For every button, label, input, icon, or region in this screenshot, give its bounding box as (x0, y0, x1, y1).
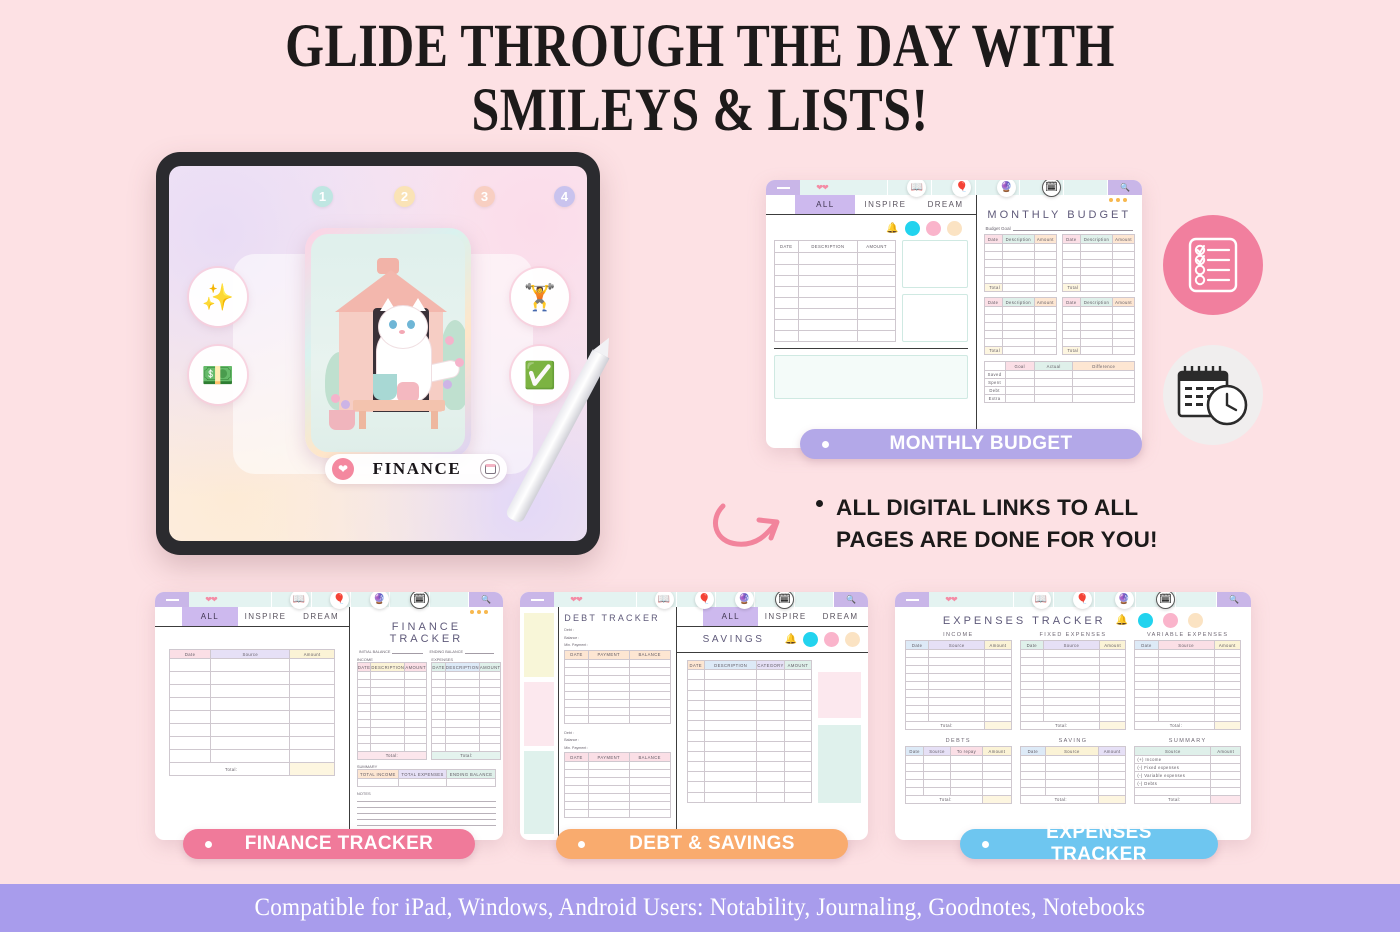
tab-all[interactable]: ALL (182, 607, 238, 626)
debt-field-minpayment[interactable]: Min. Payment : (564, 745, 670, 753)
section-summary: SUMMARY (1134, 738, 1241, 744)
cover-number-4[interactable]: 4 (554, 186, 575, 207)
col-source: Source (211, 650, 290, 659)
budget-comparison-table[interactable]: Goal Actual Difference Saved Spent Debt … (984, 361, 1135, 403)
table-row (565, 778, 670, 786)
checklist-glyph (1186, 236, 1240, 294)
col-amount: Amount (985, 641, 1011, 650)
search-icon[interactable]: 🔍 (469, 592, 503, 607)
bell-icon[interactable]: 🔔 (886, 223, 898, 234)
pill-bullet (578, 841, 585, 848)
total-label: Total: (906, 722, 985, 730)
table-row (1062, 276, 1134, 284)
col-description: DESCRIPTION (798, 241, 858, 253)
col-amount: AMOUNT (784, 661, 811, 670)
fitness-icon[interactable]: 🏋 (511, 268, 569, 326)
nav-tab-strip[interactable]: 📖 🎈 🔮 🗓 (233, 592, 469, 607)
table-row (1135, 666, 1241, 674)
table-row (984, 252, 1056, 260)
col-amount: Amount (1211, 747, 1241, 756)
budget-entries-table[interactable]: DATE DESCRIPTION AMOUNT (774, 240, 896, 342)
sticky-note-yellow[interactable] (524, 613, 554, 677)
section-variable-expenses: VARIABLE EXPENSES (1134, 632, 1241, 638)
table-row (984, 268, 1056, 276)
badge-icon[interactable]: 🔮 (997, 180, 1016, 197)
expenses-tracker-pill[interactable]: EXPENSES TRACKER (960, 829, 1218, 859)
table-row (170, 750, 335, 763)
col-total-expenses: TOTAL EXPENSES (398, 770, 446, 779)
cover-card[interactable] (305, 228, 471, 458)
table-row (775, 297, 896, 308)
col-difference: Difference (1073, 362, 1135, 371)
pill-label: MONTHLY BUDGET (842, 433, 1120, 455)
total-label: Total: (170, 763, 290, 776)
table-row (170, 698, 335, 711)
table-row (906, 666, 1012, 674)
money-icon[interactable]: 💵 (189, 346, 247, 404)
table-row (170, 672, 335, 685)
bell-icon[interactable]: 🔔 (1116, 615, 1128, 626)
mockup-navbar: ❤❤ 📖 🎈 🔮 🗓 🔍 (155, 592, 503, 607)
segment-tabs[interactable]: ALL INSPIRE DREAM (155, 607, 349, 627)
cat-illustration (311, 234, 465, 452)
table-row (687, 690, 812, 700)
table-row (1135, 650, 1241, 658)
col-actual: Actual (1034, 362, 1073, 371)
col-source: Source (929, 641, 985, 650)
color-dot-pink[interactable] (926, 221, 941, 236)
total-row: Total: (906, 722, 1012, 730)
nav-tab-strip[interactable]: 📖 🎈 🔮 🗓 (973, 592, 1217, 607)
table-row (432, 688, 501, 696)
row-label: Spent (984, 379, 1005, 387)
search-icon[interactable]: 🔍 (1108, 180, 1142, 195)
ending-balance-label: ENDING BALANCE (429, 650, 463, 654)
col-date: Date (1020, 641, 1043, 650)
table-row: Saved (984, 371, 1134, 379)
calendar-icon[interactable]: 🗓 (775, 592, 794, 609)
calendar-icon[interactable]: 🗓 (1156, 592, 1175, 609)
table-row (565, 762, 670, 770)
table-row (432, 736, 501, 744)
budget-table-2[interactable]: Date Description Amount Total (1062, 234, 1135, 292)
table-row (906, 780, 1012, 788)
notes-lines[interactable] (357, 796, 496, 826)
table-row (1135, 674, 1241, 682)
balloons-icon[interactable]: 🎈 (695, 592, 714, 609)
table-row (170, 737, 335, 750)
col-source: Source (924, 747, 951, 756)
table-row (687, 711, 812, 721)
tab-dream[interactable]: DREAM (813, 607, 868, 626)
savings-note-mint[interactable] (818, 725, 861, 803)
color-dot-pink[interactable] (1163, 613, 1178, 628)
poster-stage: GLIDE THROUGH THE DAY WITH SMILEYS & LIS… (0, 0, 1400, 932)
col-source: Source (1043, 641, 1099, 650)
col-blank (984, 362, 1005, 371)
table-row (1020, 682, 1126, 690)
table-row (984, 323, 1056, 331)
budget-table-3[interactable]: Date Description Amount Total (984, 297, 1057, 355)
table-row (1135, 690, 1241, 698)
table-row (170, 711, 335, 724)
menu-icon[interactable] (155, 592, 189, 607)
cat-eye-right-decor (407, 320, 415, 329)
table-row: (-) Fixed expenses (1135, 764, 1241, 772)
nav-tab-strip[interactable]: 📖 🎈 🔮 🗓 (598, 592, 834, 607)
total-label: Total: (432, 752, 501, 760)
bench-leg-left-decor (359, 411, 366, 429)
monthly-budget-mockup[interactable]: ❤❤ 📖 🎈 🔮 🗓 🔍 ALL INSPIRE (766, 180, 1142, 448)
debt-field-debt[interactable]: Debt : (564, 627, 670, 635)
debt-field-minpayment[interactable]: Min. Payment : (564, 642, 670, 650)
color-dot-cream[interactable] (845, 632, 860, 647)
table-row (1020, 714, 1126, 722)
flower-decor (341, 400, 350, 409)
summary-table[interactable]: TOTAL INCOME TOTAL EXPENSES ENDING BALAN… (357, 769, 496, 787)
tab-all[interactable]: ALL (703, 607, 758, 626)
flower-decor (455, 358, 464, 367)
savings-note-pink[interactable] (818, 672, 861, 718)
ending-balance-input[interactable] (465, 653, 494, 654)
debt-field-balance[interactable]: Balance : (564, 635, 670, 643)
table-row (1020, 674, 1126, 682)
color-dot-cream[interactable] (947, 221, 962, 236)
col-amount: Amount (1113, 235, 1135, 244)
tab-dream[interactable]: DREAM (293, 607, 349, 626)
table-row (1062, 252, 1134, 260)
cover-left-icon-column: ✨ 💵 (189, 268, 247, 424)
table-row (432, 720, 501, 728)
table-row (984, 260, 1056, 268)
variable-expenses-table[interactable]: Date Source Amount Total: (1134, 640, 1241, 730)
color-dot-cream[interactable] (1188, 613, 1203, 628)
menu-icon[interactable] (895, 592, 929, 607)
color-dot-cyan[interactable] (905, 221, 920, 236)
nav-tab-strip[interactable]: 📖 🎈 🔮 🗓 (844, 180, 1108, 195)
total-label: Total (984, 347, 1002, 355)
table-row (984, 276, 1056, 284)
mockup-title: FINANCE TRACKER (357, 614, 496, 650)
menu-icon[interactable] (766, 180, 800, 195)
budget-goal-input[interactable] (1013, 230, 1133, 231)
total-label: Total: (1020, 722, 1099, 730)
callout-text: ALL DIGITAL LINKS TO ALL PAGES ARE DONE … (808, 492, 1208, 556)
table-row (984, 331, 1056, 339)
col-amount: Amount (1034, 298, 1056, 307)
total-row: Total: (357, 752, 426, 760)
col-source: Source (1046, 747, 1099, 756)
col-to-repay: To repay (950, 747, 982, 756)
note-box[interactable] (902, 240, 968, 288)
segment-tabs[interactable]: ALL INSPIRE DREAM (766, 195, 976, 215)
table-row (687, 762, 812, 772)
debt-table-1[interactable]: DATE PAYMENT BALANCE (564, 650, 670, 724)
pill-label: EXPENSES TRACKER (1002, 822, 1196, 866)
mockup-title: MONTHLY BUDGET (984, 202, 1135, 226)
col-date: DATE (775, 241, 799, 253)
calendar-clock-glyph (1176, 363, 1250, 427)
table-row (906, 682, 1012, 690)
table-row (1135, 706, 1241, 714)
col-date: DATE (565, 753, 589, 762)
total-row: Total: (170, 763, 335, 776)
col-balance: BALANCE (629, 753, 670, 762)
pill-bullet (205, 841, 212, 848)
table-row (432, 680, 501, 688)
row-label: Extra (984, 395, 1005, 403)
search-icon[interactable]: 🔍 (834, 592, 868, 607)
table-row (357, 688, 426, 696)
budget-table-1[interactable]: Date Description Amount Total (984, 234, 1057, 292)
cover-title-pill[interactable]: ❤ FINANCE (325, 454, 507, 484)
table-row (984, 244, 1056, 252)
table-row (984, 315, 1056, 323)
table-row (775, 330, 896, 341)
color-dot-cyan[interactable] (1138, 613, 1153, 628)
note-box[interactable] (902, 294, 968, 342)
table-row (1020, 764, 1126, 772)
badge-icon[interactable]: 🔮 (370, 592, 389, 609)
total-row: Total: (432, 752, 501, 760)
budget-goal-label: Budget Goal (986, 226, 1011, 231)
color-dot-cyan[interactable] (803, 632, 818, 647)
cover-number-2[interactable]: 2 (394, 186, 415, 207)
monthly-budget-pill[interactable]: MONTHLY BUDGET (800, 429, 1142, 459)
debt-table-2[interactable]: DATE PAYMENT BALANCE (564, 752, 670, 818)
table-row (565, 810, 670, 818)
debt-savings-mockup[interactable]: ❤❤ 📖 🎈 🔮 🗓 🔍 DEBT T (520, 592, 868, 840)
page-title: GLIDE THROUGH THE DAY WITH SMILEYS & LIS… (126, 18, 1274, 140)
menu-icon[interactable] (520, 592, 554, 607)
bench-decor (353, 400, 445, 411)
table-row (687, 670, 812, 680)
table-row (357, 680, 426, 688)
income-table[interactable]: Date Source Amount Total: (905, 640, 1012, 730)
table-row (565, 699, 670, 707)
budget-table-4[interactable]: Date Description Amount Total (1062, 297, 1135, 355)
sticky-note-mint[interactable] (524, 751, 554, 834)
table-row (687, 721, 812, 731)
table-row: Spent (984, 379, 1134, 387)
table-row (432, 672, 501, 680)
debt-savings-pill[interactable]: DEBT & SAVINGS (556, 829, 848, 859)
note-box-wide[interactable] (774, 355, 968, 399)
table-row (1020, 698, 1126, 706)
col-description: DESCRIPTION (705, 661, 757, 670)
table-row (1020, 650, 1126, 658)
table-row (775, 253, 896, 264)
finance-tracker-pill[interactable]: FINANCE TRACKER (183, 829, 475, 859)
verified-badge-icon[interactable]: ✅ (511, 346, 569, 404)
total-row: Total: (1135, 796, 1241, 804)
pill-bullet (982, 841, 989, 848)
table-row (687, 680, 812, 690)
bench-leg-right-decor (431, 411, 438, 429)
table-row (565, 691, 670, 699)
pill-label: FINANCE TRACKER (225, 833, 453, 855)
balloons-icon[interactable]: 🎈 (330, 592, 349, 609)
badge-icon[interactable]: 🔮 (1115, 592, 1134, 609)
debts-table[interactable]: Date Source To repay Amount Total: (905, 746, 1012, 804)
total-label: Total: (1135, 722, 1214, 730)
col-balance: BALANCE (629, 650, 670, 659)
table-row (357, 736, 426, 744)
col-amount: Amount (290, 650, 335, 659)
table-row (1020, 788, 1126, 796)
table-row: (-) Debts (1135, 780, 1241, 788)
bell-icon[interactable]: 🔔 (785, 634, 797, 645)
table-row (1062, 315, 1134, 323)
col-date: Date (1020, 747, 1045, 756)
table-row (170, 724, 335, 737)
row-label: Saved (984, 371, 1005, 379)
table-row (432, 744, 501, 752)
table-row (687, 700, 812, 710)
tab-all[interactable]: ALL (795, 195, 855, 214)
table-row (1135, 658, 1241, 666)
table-row (1020, 666, 1126, 674)
table-row (1062, 307, 1134, 315)
tab-inspire[interactable]: INSPIRE (238, 607, 294, 626)
table-row (1020, 756, 1126, 764)
checklist-icon (1163, 215, 1263, 315)
cover-number-1[interactable]: 1 (312, 186, 333, 207)
tab-inspire[interactable]: INSPIRE (855, 195, 915, 214)
table-row (565, 675, 670, 683)
summary-row-label: (+) Income (1135, 756, 1211, 764)
expenses-tracker-mockup[interactable]: ❤❤ 📖 🎈 🔮 🗓 🔍 EXPENSES TRACKER 🔔 (895, 592, 1251, 840)
table-row (906, 674, 1012, 682)
cover-number-tabs: 1 2 3 4 (169, 186, 587, 212)
debt-field-debt[interactable]: Debt : (564, 730, 670, 738)
calendar-icon[interactable]: 🗓 (1042, 180, 1061, 197)
col-amount: Amount (1113, 298, 1135, 307)
section-debts: DEBTS (905, 738, 1012, 744)
table-row (357, 720, 426, 728)
summary-row-label: (-) Debts (1135, 780, 1211, 788)
col-total-income: TOTAL INCOME (357, 770, 398, 779)
color-dot-pink[interactable] (824, 632, 839, 647)
sparkles-icon[interactable]: ✨ (189, 268, 247, 326)
table-row (1062, 339, 1134, 347)
income-table[interactable]: DATE DESCRIPTION AMOUNT Total: (357, 662, 427, 760)
col-amount: Amount (1034, 235, 1056, 244)
segment-tabs[interactable]: ALL INSPIRE DREAM (677, 607, 868, 627)
calendar-icon[interactable] (480, 459, 500, 479)
table-row (565, 770, 670, 778)
summary-table[interactable]: Source Amount (+) Income (-) Fixed expen… (1134, 746, 1241, 804)
col-date: Date (984, 298, 1002, 307)
debt-field-balance[interactable]: Balance : (564, 737, 670, 745)
finance-tracker-mockup[interactable]: ❤❤ 📖 🎈 🔮 🗓 🔍 ALL INSPIRE DREAM (155, 592, 503, 840)
col-description: DESCRIPTION (445, 663, 479, 672)
table-row: (+) Income (1135, 756, 1241, 764)
table-row (357, 696, 426, 704)
row-label: Debt (984, 387, 1005, 395)
expenses-table[interactable]: DATE DESCRIPTION AMOUNT Total: (431, 662, 501, 760)
col-date: Date (170, 650, 211, 659)
cat-eye-left-decor (389, 320, 397, 329)
table-row (1020, 658, 1126, 666)
balloons-icon[interactable]: 🎈 (1073, 592, 1092, 609)
tab-inspire[interactable]: INSPIRE (758, 607, 813, 626)
table-row (687, 772, 812, 782)
table-row (687, 782, 812, 792)
headline-line-1: GLIDE THROUGH THE DAY WITH (285, 13, 1115, 80)
col-description: Description (1002, 298, 1034, 307)
mockup-navbar: ❤❤ 📖 🎈 🔮 🗓 🔍 (766, 180, 1142, 195)
table-row (565, 786, 670, 794)
table-row (432, 704, 501, 712)
finance-entries-table[interactable]: Date Source Amount Total: (169, 649, 335, 776)
table-row (906, 714, 1012, 722)
footer-text: Compatible for iPad, Windows, Android Us… (255, 894, 1146, 922)
total-label: Total (1062, 284, 1080, 292)
sticky-note-pink[interactable] (524, 682, 554, 746)
tab-dream[interactable]: DREAM (915, 195, 975, 214)
col-date: DATE (432, 663, 445, 672)
cover-number-3[interactable]: 3 (474, 186, 495, 207)
fixed-expenses-table[interactable]: Date Source Amount Total: (1020, 640, 1127, 730)
table-row (565, 659, 670, 667)
saving-table[interactable]: Date Source Amount Total: (1020, 746, 1127, 804)
book-icon[interactable]: 📖 (290, 592, 309, 609)
plant-pot-teal-decor (373, 374, 397, 400)
col-date: Date (984, 235, 1002, 244)
col-payment: PAYMENT (588, 753, 629, 762)
book-icon[interactable]: 📖 (655, 592, 674, 609)
book-icon[interactable]: 📖 (1032, 592, 1051, 609)
badge-icon[interactable]: 🔮 (735, 592, 754, 609)
total-row: Total: (1020, 796, 1126, 804)
cover-right-icon-column: 🏋 ✅ (511, 268, 569, 424)
total-label: Total (984, 284, 1002, 292)
mockup-navbar: ❤❤ 📖 🎈 🔮 🗓 🔍 (895, 592, 1251, 607)
table-row (1020, 780, 1126, 788)
table-row (906, 650, 1012, 658)
search-icon[interactable]: 🔍 (1217, 592, 1251, 607)
balloons-icon[interactable]: 🎈 (952, 180, 971, 197)
book-icon[interactable]: 📖 (907, 180, 926, 197)
table-row (1062, 323, 1134, 331)
table-row (565, 802, 670, 810)
table-row (775, 319, 896, 330)
plant-pot-pink-decor (397, 382, 419, 402)
col-amount: Amount (983, 747, 1011, 756)
table-row (565, 667, 670, 675)
table-row (906, 788, 1012, 796)
pill-label: DEBT & SAVINGS (598, 833, 826, 855)
footer-banner: Compatible for iPad, Windows, Android Us… (0, 884, 1400, 932)
initial-balance-label: INITIAL BALANCE (359, 650, 391, 654)
table-row (775, 286, 896, 297)
savings-table[interactable]: DATE DESCRIPTION CATEGORY AMOUNT (687, 660, 813, 803)
table-row (565, 715, 670, 723)
table-row (432, 712, 501, 720)
table-row (1062, 331, 1134, 339)
initial-balance-input[interactable] (392, 653, 423, 654)
table-row (775, 264, 896, 275)
flower-decor (331, 394, 340, 403)
col-description: DESCRIPTION (371, 663, 405, 672)
table-row (1135, 788, 1241, 796)
col-ending-balance: ENDING BALANCE (447, 770, 496, 779)
calendar-icon[interactable]: 🗓 (410, 592, 429, 609)
col-date: Date (1135, 641, 1158, 650)
col-description: Description (1080, 235, 1112, 244)
table-row (1062, 268, 1134, 276)
